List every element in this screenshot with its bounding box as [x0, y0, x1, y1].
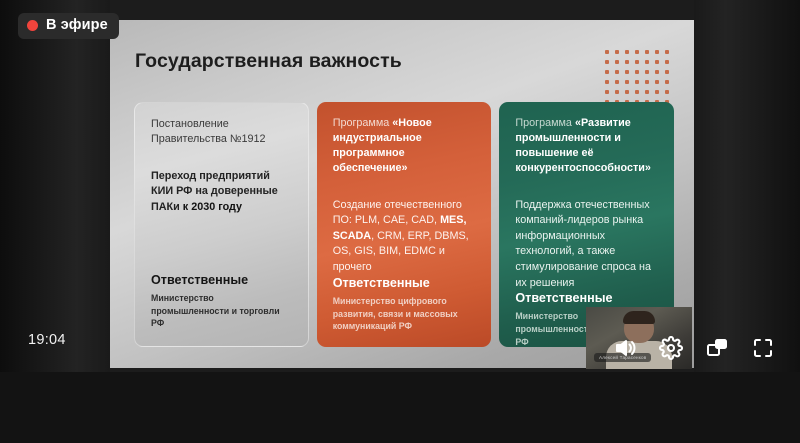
card-program-name: Правительства №1912	[151, 133, 266, 145]
card-header: Программа «Новое индустриальное программ…	[333, 116, 476, 176]
volume-button[interactable]	[602, 326, 648, 370]
card-program-prefix: Программа	[515, 117, 575, 129]
card-responsible: Ответственные Министерство цифрового раз…	[333, 276, 476, 349]
fullscreen-button[interactable]	[740, 326, 786, 370]
card-body-text: Переход предприятий КИИ РФ на доверенные…	[151, 169, 292, 216]
player-controls	[602, 326, 786, 370]
card-header: Постановление Правительства №1912	[151, 117, 292, 147]
gear-icon	[659, 336, 683, 360]
card-body-bold: к 2030 году	[183, 201, 242, 213]
settings-button[interactable]	[648, 326, 694, 370]
card-header: Программа «Развитие промышленности и пов…	[515, 116, 658, 176]
live-dot-icon	[27, 20, 38, 31]
live-badge: В эфире	[18, 13, 119, 39]
card-novoe-po: Программа «Новое индустриальное программ…	[317, 102, 492, 347]
caption-bar	[0, 372, 800, 443]
card-responsible-title: Ответственные	[151, 273, 292, 287]
card-program-line: Постановление Правительства №1912	[151, 117, 292, 147]
card-program-prefix: Программа	[333, 117, 393, 129]
card-responsible-title: Ответственные	[515, 291, 658, 305]
video-player[interactable]: В эфире Государственная важность Постано…	[0, 0, 800, 443]
picture-in-picture-icon	[705, 336, 729, 360]
card-responsible-text: Министерство цифрового развития, связи и…	[333, 295, 476, 333]
card-body: Создание отечественного ПО: PLM, CAE, CA…	[333, 176, 476, 276]
self-view-person-hair	[623, 311, 655, 324]
card-postanovlenie: Постановление Правительства №1912 Перехо…	[134, 102, 309, 347]
live-badge-label: В эфире	[46, 18, 108, 33]
slide-title: Государственная важность	[135, 50, 402, 73]
stream-timestamp: 19:04	[28, 332, 66, 348]
card-responsible: Ответственные Министерство промышленност…	[151, 273, 292, 346]
card-body: Переход предприятий КИИ РФ на доверенные…	[151, 147, 292, 273]
card-body-text: Создание отечественного ПО: PLM, CAE, CA…	[333, 198, 476, 276]
picture-in-picture-button[interactable]	[694, 326, 740, 370]
fullscreen-icon	[751, 336, 775, 360]
card-responsible-title: Ответственные	[333, 276, 476, 290]
card-program-prefix: Постановление	[151, 118, 229, 130]
volume-icon	[613, 336, 637, 360]
card-program-line: Программа «Развитие промышленности и пов…	[515, 116, 658, 176]
card-responsible-text: Министерство промышленности и торговли Р…	[151, 292, 292, 330]
card-body: Поддержка отечественных компаний-лидеров…	[515, 176, 658, 292]
card-program-line: Программа «Новое индустриальное программ…	[333, 116, 476, 176]
card-body-text: Поддержка отечественных компаний-лидеров…	[515, 198, 658, 292]
